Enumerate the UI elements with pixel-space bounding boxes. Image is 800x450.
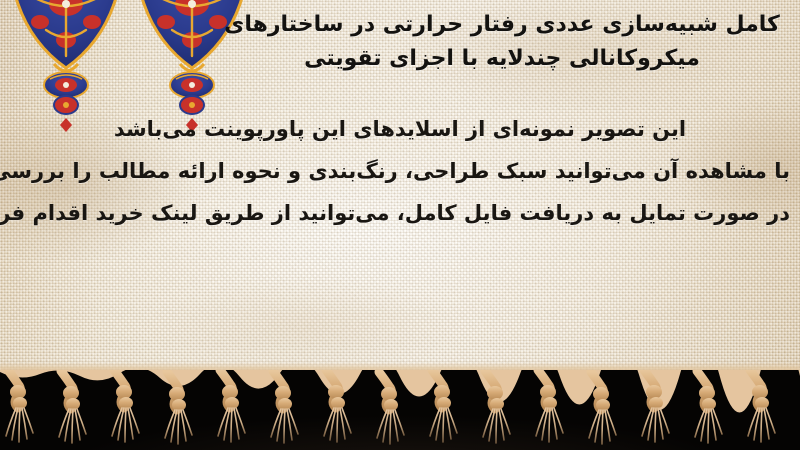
slide-body-line-2: با مشاهده آن می‌توانید سبک طراحی، رنگ‌بن… bbox=[10, 150, 790, 192]
slide-title: کامل شبیه‌سازی عددی رفتار حرارتی در ساخت… bbox=[212, 8, 792, 76]
presentation-slide: کامل شبیه‌سازی عددی رفتار حرارتی در ساخت… bbox=[0, 0, 800, 450]
slide-body: این تصویر نمونه‌ای از اسلایدهای این پاور… bbox=[10, 108, 790, 234]
slide-title-line-2: میکروکانالی چندلایه با اجزای تقویتی bbox=[212, 42, 792, 76]
slide-body-line-1: این تصویر نمونه‌ای از اسلایدهای این پاور… bbox=[10, 108, 790, 150]
carpet-fringe-band bbox=[0, 370, 800, 450]
slide-body-line-3: در صورت تمایل به دریافت فایل کامل، می‌تو… bbox=[10, 192, 790, 234]
slide-title-line-1: کامل شبیه‌سازی عددی رفتار حرارتی در ساخت… bbox=[212, 8, 792, 42]
carpet-fringe-tassels-icon bbox=[0, 370, 800, 450]
